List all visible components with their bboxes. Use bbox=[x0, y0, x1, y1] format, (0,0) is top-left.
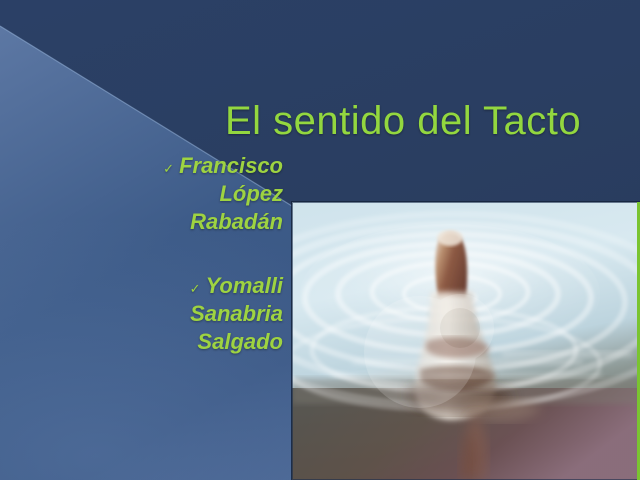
check-icon: ✓ bbox=[163, 162, 174, 175]
author-line-text: López bbox=[118, 180, 283, 208]
author-name-line: ✓ Yomalli bbox=[118, 272, 283, 300]
authors-spacer bbox=[118, 262, 283, 272]
author-name-line: ✓ Francisco bbox=[118, 152, 283, 180]
author-line-text: Yomalli bbox=[206, 272, 283, 300]
page-title: El sentido del Tacto bbox=[225, 99, 625, 144]
check-icon: ✓ bbox=[190, 282, 201, 295]
authors-list: ✓ Francisco López Rabadán ✓ Yomalli Sana… bbox=[118, 152, 283, 382]
presentation-slide: El sentido del Tacto ✓ Francisco López R… bbox=[0, 0, 640, 480]
author-line-text: Sanabria bbox=[118, 300, 283, 328]
list-item: ✓ Francisco López Rabadán bbox=[118, 152, 283, 236]
list-item: ✓ Yomalli Sanabria Salgado bbox=[118, 272, 283, 356]
author-line-text: Rabadán bbox=[118, 208, 283, 236]
author-line-text: Salgado bbox=[118, 328, 283, 356]
author-line-text: Francisco bbox=[179, 152, 283, 180]
water-ripple-fingertip-photo bbox=[292, 202, 640, 480]
